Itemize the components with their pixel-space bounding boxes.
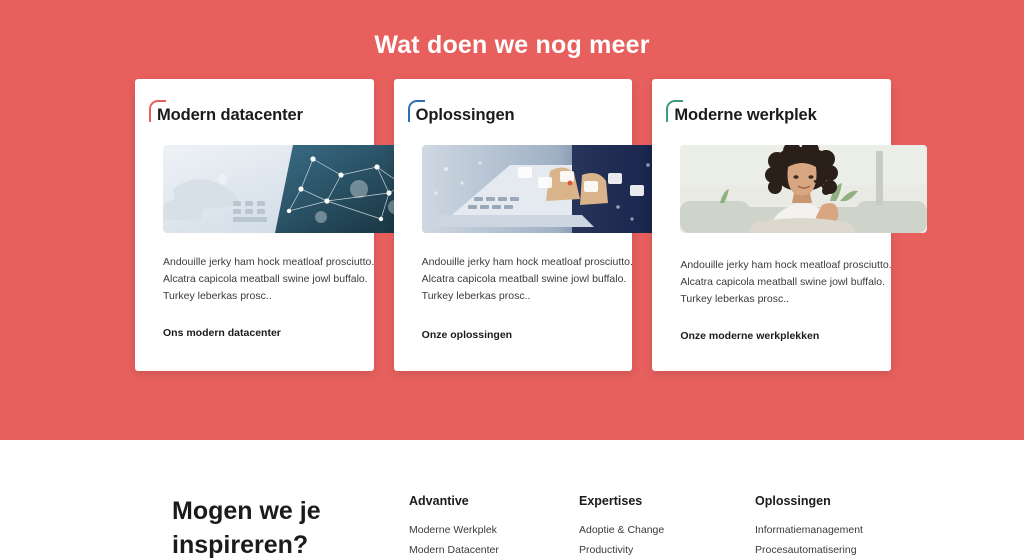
card-body-line: Turkey leberkas prosc.. bbox=[680, 291, 880, 308]
hands-typing-on-laptop-network-graphic-image bbox=[163, 145, 410, 233]
card-moderne-werkplek[interactable]: Moderne werkplek bbox=[652, 79, 891, 371]
card-link[interactable]: Onze moderne werkplekken bbox=[680, 330, 819, 342]
card-body: Andouille jerky ham hock meatloaf prosci… bbox=[422, 254, 622, 305]
card-body-line: Andouille jerky ham hock meatloaf prosci… bbox=[422, 254, 622, 271]
card-link[interactable]: Ons modern datacenter bbox=[163, 327, 281, 339]
card-body-line: Alcatra capicola meatball swine jowl buf… bbox=[422, 271, 622, 288]
footer-column-advantive: Advantive Moderne Werkplek Modern Datace… bbox=[409, 494, 532, 560]
card-body-line: Turkey leberkas prosc.. bbox=[422, 288, 622, 305]
card-header: Moderne werkplek bbox=[652, 79, 891, 143]
footer-link[interactable]: Procesautomatisering bbox=[755, 540, 863, 560]
card-body-line: Turkey leberkas prosc.. bbox=[163, 288, 363, 305]
footer-column-title: Oplossingen bbox=[755, 494, 863, 508]
card-image bbox=[422, 145, 669, 233]
card-header: Oplossingen bbox=[394, 79, 633, 143]
card-body: Andouille jerky ham hock meatloaf prosci… bbox=[163, 254, 363, 305]
footer-column-title: Expertises bbox=[579, 494, 664, 508]
card-body-line: Andouille jerky ham hock meatloaf prosci… bbox=[163, 254, 363, 271]
card-body-line: Alcatra capicola meatball swine jowl buf… bbox=[163, 271, 363, 288]
card-body-line: Andouille jerky ham hock meatloaf prosci… bbox=[680, 257, 880, 274]
footer-link[interactable]: Adoptie & Change bbox=[579, 520, 664, 540]
card-title: Oplossingen bbox=[416, 105, 633, 125]
card-header: Modern datacenter bbox=[135, 79, 374, 143]
footer-link[interactable]: Moderne Werkplek bbox=[409, 520, 532, 540]
footer-heading: Mogen we je inspireren? bbox=[172, 494, 382, 560]
cards-row: Modern datacenter bbox=[135, 79, 891, 371]
card-modern-datacenter[interactable]: Modern datacenter bbox=[135, 79, 374, 371]
page-title: Wat doen we nog meer bbox=[0, 31, 1024, 60]
card-title: Modern datacenter bbox=[157, 105, 374, 125]
footer-column-title: Advantive bbox=[409, 494, 532, 508]
card-title: Moderne werkplek bbox=[674, 105, 891, 125]
card-body: Andouille jerky ham hock meatloaf prosci… bbox=[680, 257, 880, 308]
footer-inner: Mogen we je inspireren? Advantive Modern… bbox=[0, 440, 1024, 560]
footer-link[interactable]: Modern Datacenter bbox=[409, 540, 532, 560]
footer-link[interactable]: Productivity bbox=[579, 540, 664, 560]
woman-with-headset-on-video-call-image bbox=[680, 145, 927, 233]
card-link[interactable]: Onze oplossingen bbox=[422, 329, 512, 341]
footer-section: Mogen we je inspireren? Advantive Modern… bbox=[0, 440, 1024, 560]
card-oplossingen[interactable]: Oplossingen bbox=[394, 79, 633, 371]
card-image bbox=[680, 145, 927, 233]
page-root: Wat doen we nog meer Modern datacenter bbox=[0, 0, 1024, 560]
footer-link[interactable]: Informatiemanagement bbox=[755, 520, 863, 540]
footer-column-oplossingen: Oplossingen Informatiemanagement Procesa… bbox=[755, 494, 863, 560]
laptop-with-glowing-city-icons-image bbox=[422, 145, 669, 233]
footer-column-expertises: Expertises Adoptie & Change Productivity… bbox=[579, 494, 664, 560]
card-body-line: Alcatra capicola meatball swine jowl buf… bbox=[680, 274, 880, 291]
card-image bbox=[163, 145, 410, 233]
